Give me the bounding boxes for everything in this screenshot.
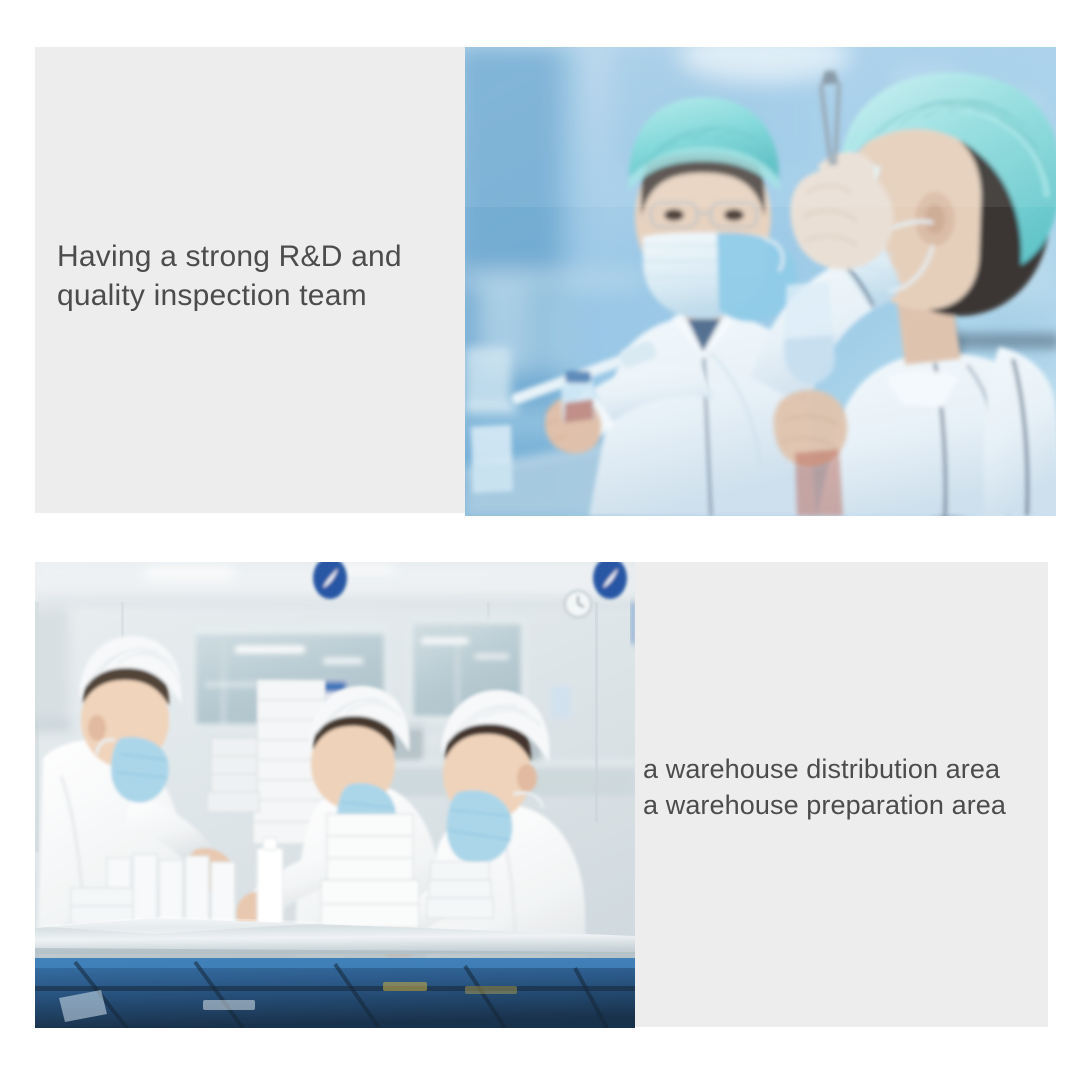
rnd-quality-section: Having a strong R&D and quality inspecti… — [35, 47, 1056, 516]
rnd-quality-caption: Having a strong R&D and quality inspecti… — [57, 237, 457, 315]
warehouse-text-panel: a warehouse distribution area a warehous… — [635, 562, 1048, 1027]
warehouse-section: a warehouse distribution area a warehous… — [35, 562, 1048, 1028]
warehouse-packing-photo — [35, 562, 635, 1028]
lab-technicians-photo-graphic — [465, 47, 1056, 516]
lab-technicians-photo — [465, 47, 1056, 516]
warehouse-caption: a warehouse distribution area a warehous… — [643, 752, 1048, 824]
warehouse-packing-photo-graphic — [35, 562, 635, 1028]
rnd-quality-text-panel: Having a strong R&D and quality inspecti… — [35, 47, 465, 513]
